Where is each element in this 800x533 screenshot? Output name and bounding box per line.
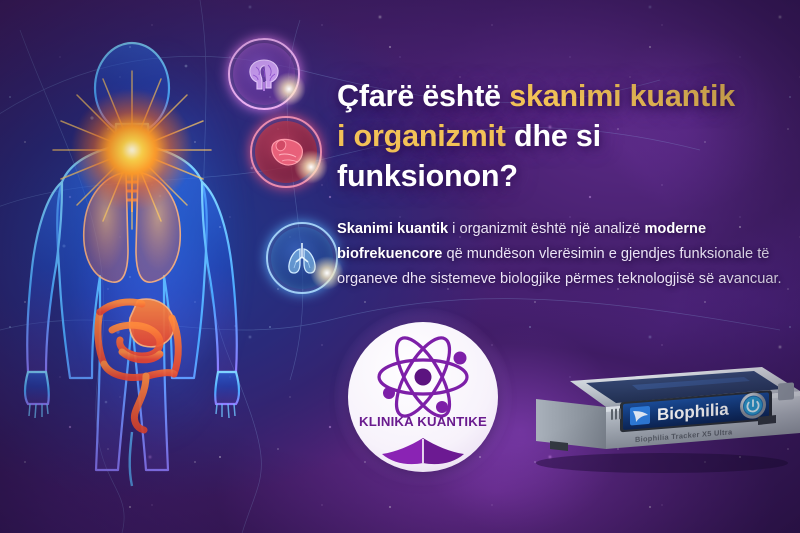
poster-canvas: Çfarë është skanimi kuantik i organizmit… <box>0 0 800 533</box>
vignette-overlay <box>0 0 800 533</box>
